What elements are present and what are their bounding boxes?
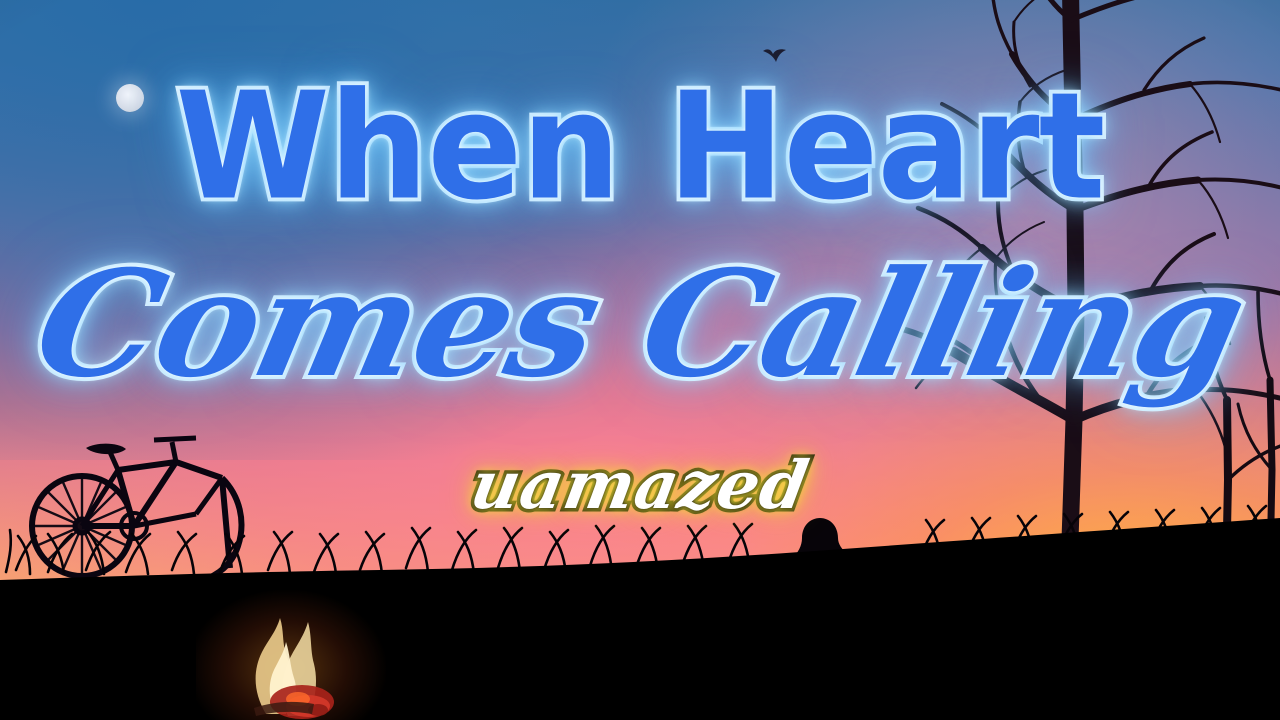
campfire-icon bbox=[214, 596, 364, 720]
grass-silhouette bbox=[0, 460, 1280, 720]
bird-icon bbox=[762, 47, 788, 67]
video-thumbnail-frame: When Heart Comes Calling uamazed bbox=[0, 0, 1280, 720]
moon-icon bbox=[116, 84, 144, 112]
sky-blue-wash bbox=[0, 0, 780, 460]
